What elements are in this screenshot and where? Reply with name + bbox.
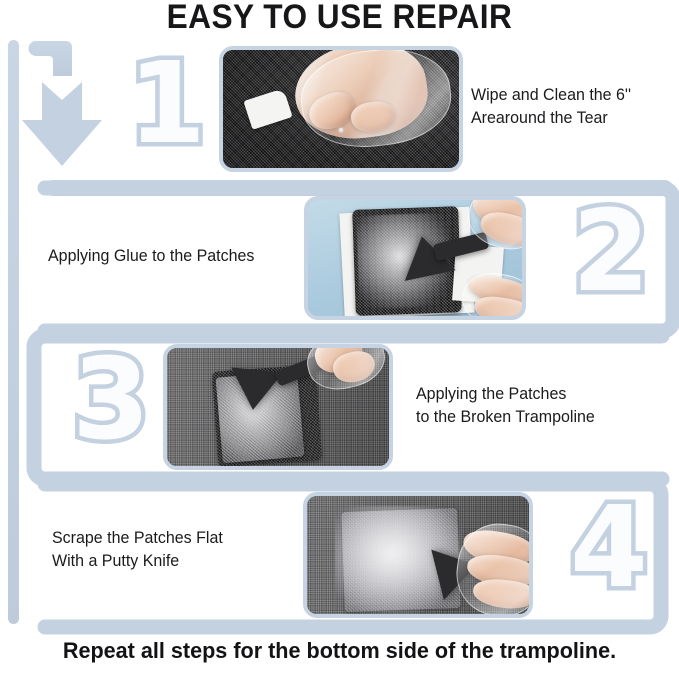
step-caption-1: Wipe and Clean the 6'' Arearound the Tea… bbox=[471, 84, 670, 131]
flow-elbow bbox=[29, 41, 73, 76]
footer-note: Repeat all steps for the bottom side of … bbox=[14, 638, 666, 664]
step-photo-3 bbox=[163, 344, 393, 470]
step-photo-2 bbox=[304, 196, 526, 320]
tear-marker bbox=[339, 128, 343, 132]
page-title: EASY TO USE REPAIR bbox=[24, 0, 655, 37]
step-caption-3: Applying the Patches to the Broken Tramp… bbox=[416, 383, 659, 430]
step-caption-4: Scrape the Patches Flat With a Putty Kni… bbox=[52, 527, 290, 574]
step-caption-2: Applying Glue to the Patches bbox=[48, 245, 300, 268]
step-photo-1 bbox=[219, 46, 463, 172]
infographic-root: EASY TO USE REPAIR 1 bbox=[0, 0, 679, 674]
step-number-3: 3 bbox=[72, 344, 150, 456]
step-number-1: 1 bbox=[128, 48, 206, 160]
step-number-2: 2 bbox=[572, 196, 650, 308]
flow-spine bbox=[8, 40, 19, 624]
step-number-4: 4 bbox=[570, 492, 648, 604]
down-arrow-icon bbox=[22, 82, 102, 166]
step-photo-4 bbox=[303, 492, 533, 618]
